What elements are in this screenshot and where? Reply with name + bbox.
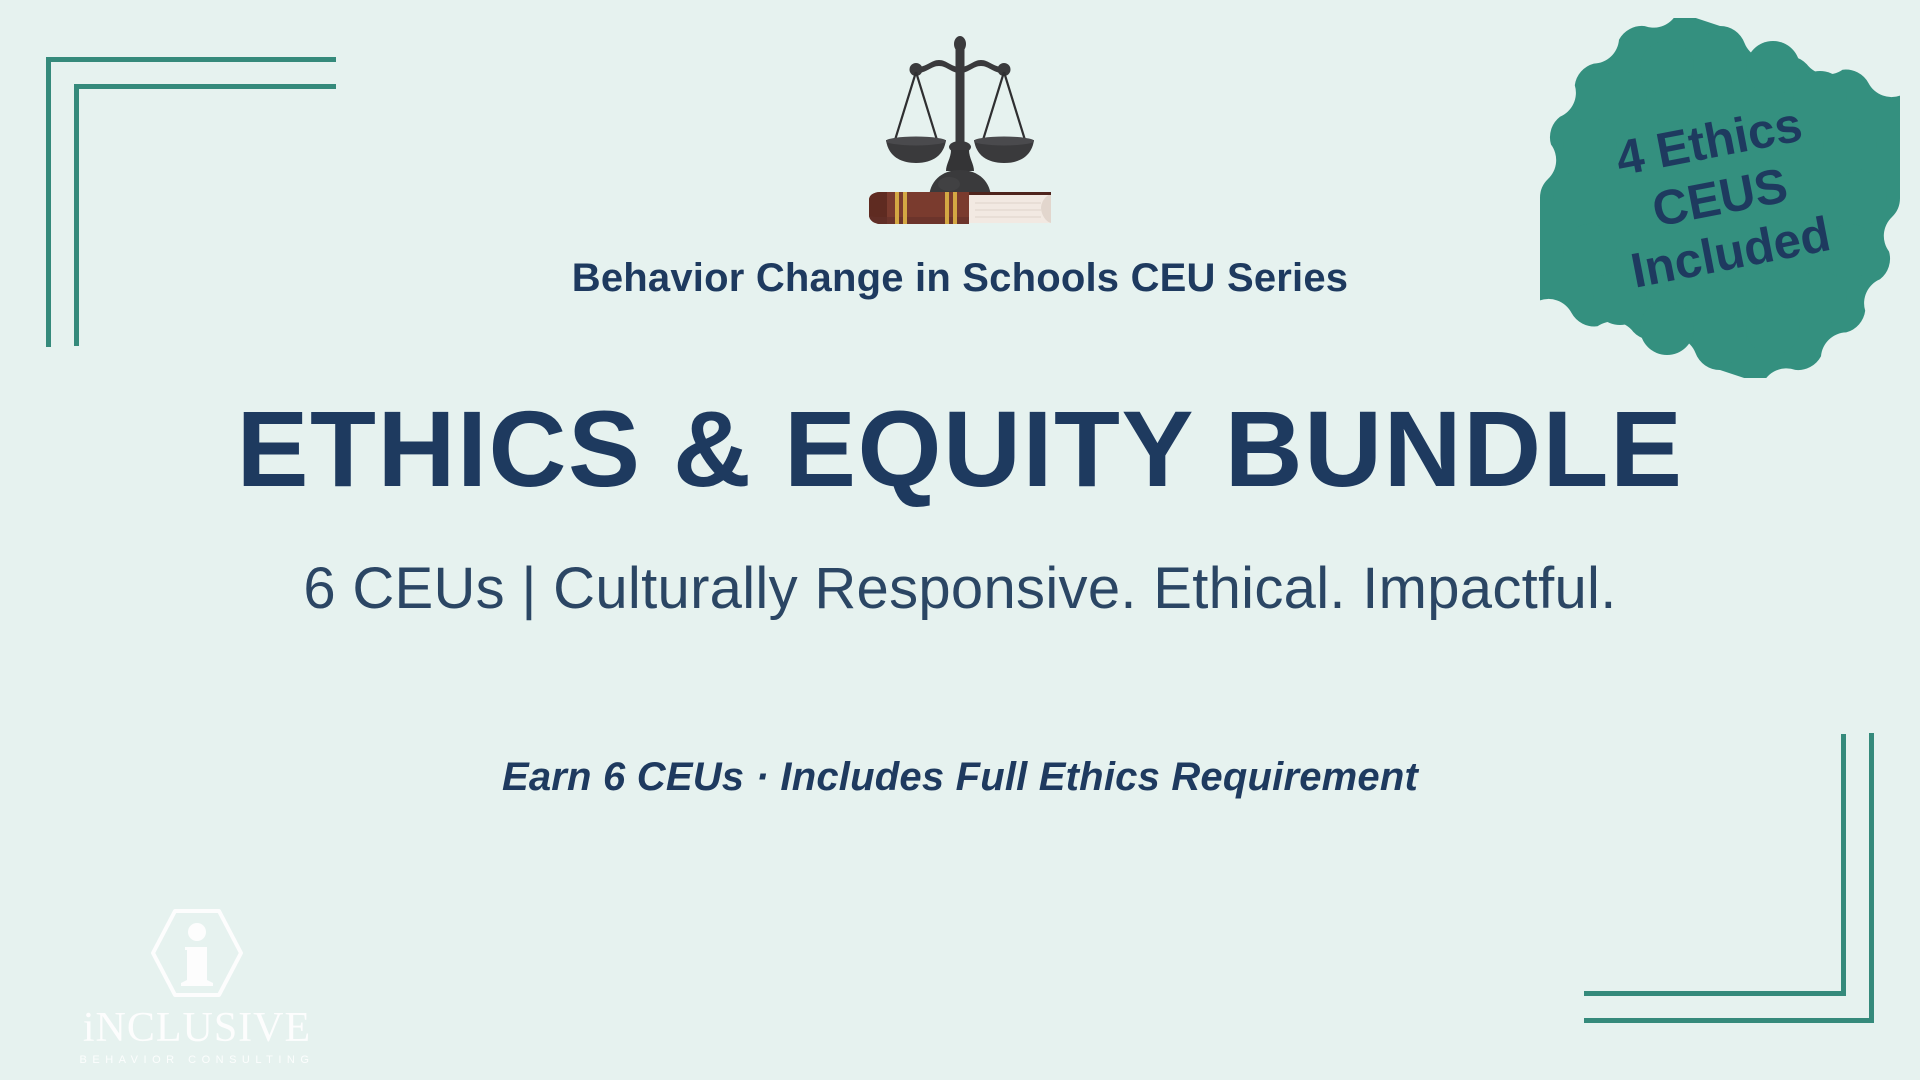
hexagon-i-icon bbox=[145, 901, 249, 1005]
corner-bracket-top-left-inner bbox=[74, 84, 336, 346]
logo-tagline: BEHAVIOR CONSULTING bbox=[72, 1054, 322, 1066]
logo-wordmark: iNCLUSIVE bbox=[72, 1007, 322, 1049]
tagline: 6 CEUs | Culturally Responsive. Ethical.… bbox=[0, 555, 1920, 622]
badge-starburst-shape bbox=[1540, 18, 1900, 378]
promo-banner: Behavior Change in Schools CEU Series ET… bbox=[0, 0, 1920, 1080]
corner-bracket-top-left-outer bbox=[46, 57, 336, 347]
brand-logo: iNCLUSIVE BEHAVIOR CONSULTING bbox=[72, 901, 322, 1066]
cta-text: Earn 6 CEUs · Includes Full Ethics Requi… bbox=[0, 755, 1920, 800]
ethics-ceu-badge: 4 Ethics CEUS Included bbox=[1540, 18, 1900, 378]
scales-of-justice-icon bbox=[845, 24, 1075, 229]
page-title: ETHICS & EQUITY BUNDLE bbox=[0, 392, 1920, 506]
